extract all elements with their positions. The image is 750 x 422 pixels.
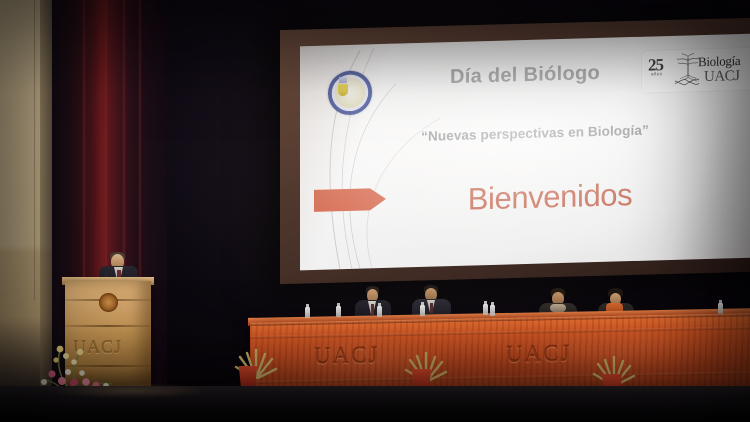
projection-screen: 25 años Biología UACJ Día del Biólogo “N… — [300, 34, 750, 271]
water-bottle — [305, 307, 310, 318]
logo-years-word: años — [651, 71, 662, 76]
biologia-uacj-logo: 25 años Biología UACJ — [642, 47, 750, 92]
water-bottle — [718, 303, 723, 314]
water-bottle — [490, 305, 495, 316]
water-bottle — [420, 305, 425, 316]
photograph-stage: 25 años Biología UACJ Día del Biólogo “N… — [0, 0, 750, 422]
water-bottle — [377, 306, 382, 317]
water-bottle — [336, 306, 341, 317]
floor-light-pool — [20, 380, 240, 402]
podium-seal-icon — [99, 293, 118, 312]
slide-arrow-icon — [314, 188, 370, 212]
stage-front-edge — [0, 404, 750, 422]
logo-institution-label: UACJ — [704, 68, 740, 86]
table-brand-right: UACJ — [506, 341, 572, 368]
water-bottle — [483, 304, 488, 315]
table-brand-left: UACJ — [314, 342, 380, 369]
